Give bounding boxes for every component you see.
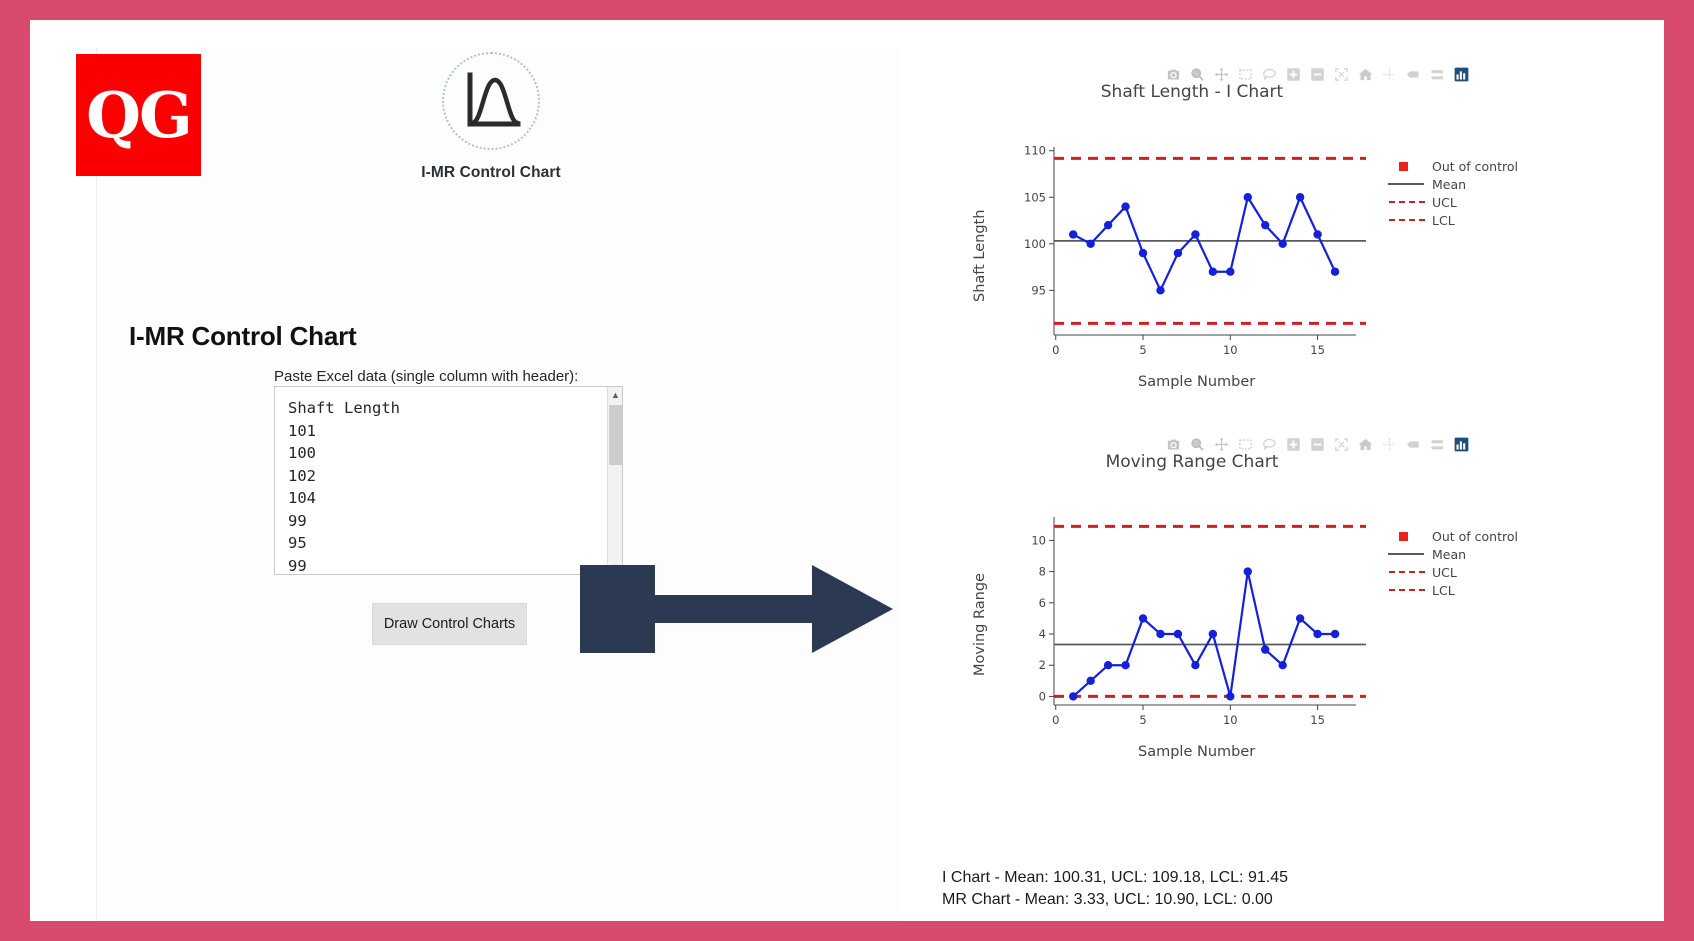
legend-item-label: UCL [1432, 195, 1457, 210]
page-title: I-MR Control Chart [129, 321, 356, 352]
brand-badge: I-MR Control Chart [396, 52, 586, 182]
mr-chart-stats-line: MR Chart - Mean: 3.33, UCL: 10.90, LCL: … [942, 889, 1288, 911]
svg-text:8: 8 [1039, 565, 1046, 579]
legend-swatch [1389, 571, 1425, 573]
badge-title: I-MR Control Chart [396, 164, 586, 182]
i-chart-plot-area[interactable]: 95100105110051015 [1006, 139, 1366, 369]
svg-text:5: 5 [1139, 713, 1146, 727]
app-page: QG I-MR Control Chart I-MR Control Chart… [66, 34, 1628, 907]
textarea-value: Shaft Length 101 100 102 104 99 95 99 [288, 397, 400, 575]
hover-compare-icon[interactable] [1426, 434, 1448, 454]
i-chart-y-axis-title: Shaft Length [972, 210, 988, 302]
legend-swatch [1389, 589, 1425, 591]
legend-item-out-of-control[interactable]: Out of control [1386, 527, 1518, 545]
reset-axes-home-icon[interactable] [1354, 434, 1376, 454]
textarea-scrollbar[interactable]: ▲ ▼ [607, 387, 622, 574]
legend-key-icon [1386, 563, 1426, 581]
legend-key-icon [1386, 193, 1426, 211]
toggle-spike-lines-icon[interactable] [1378, 64, 1400, 84]
mr-chart-x-axis-title: Sample Number [1138, 744, 1255, 760]
svg-text:105: 105 [1024, 190, 1046, 204]
mr-chart-plot-area[interactable]: 0246810051015 [1006, 509, 1366, 739]
hover-compare-icon[interactable] [1426, 64, 1448, 84]
badge-circle [442, 52, 540, 150]
legend-item-label: LCL [1432, 583, 1455, 598]
legend-key-icon [1386, 527, 1426, 545]
svg-text:95: 95 [1031, 283, 1046, 297]
reset-axes-home-icon[interactable] [1354, 64, 1376, 84]
i-chart-title: Shaft Length - I Chart [1042, 82, 1342, 102]
legend-item-ucl[interactable]: UCL [1386, 193, 1518, 211]
zoom-out-icon[interactable] [1306, 64, 1328, 84]
scroll-up-icon[interactable]: ▲ [608, 387, 623, 402]
toggle-spike-lines-icon[interactable] [1378, 434, 1400, 454]
autoscale-icon[interactable] [1330, 434, 1352, 454]
legend-item-ucl[interactable]: UCL [1386, 563, 1518, 581]
box-select-icon[interactable] [1234, 64, 1256, 84]
plotly-logo-icon[interactable] [1450, 434, 1472, 454]
svg-text:6: 6 [1039, 596, 1046, 610]
legend-item-label: Mean [1432, 177, 1466, 192]
svg-text:10: 10 [1223, 343, 1238, 357]
poster-frame: QG I-MR Control Chart I-MR Control Chart… [30, 20, 1664, 921]
legend-item-lcl[interactable]: LCL [1386, 581, 1518, 599]
legend-item-lcl[interactable]: LCL [1386, 211, 1518, 229]
draw-control-charts-button[interactable]: Draw Control Charts [372, 603, 527, 645]
pan-move-icon[interactable] [1210, 434, 1232, 454]
legend-key-icon [1386, 211, 1426, 229]
lasso-select-icon[interactable] [1258, 434, 1280, 454]
flow-arrow-icon [580, 559, 895, 659]
svg-text:0: 0 [1039, 689, 1046, 703]
legend-item-label: UCL [1432, 565, 1457, 580]
scrollbar-thumb[interactable] [609, 405, 622, 465]
svg-text:15: 15 [1310, 343, 1325, 357]
excel-data-textarea[interactable]: Shaft Length 101 100 102 104 99 95 99 ▲ … [274, 386, 623, 575]
qg-logo: QG [76, 54, 201, 176]
pan-move-icon[interactable] [1210, 64, 1232, 84]
mr-chart-modebar[interactable] [1162, 434, 1472, 454]
svg-text:0: 0 [1052, 343, 1059, 357]
legend-item-label: Out of control [1432, 529, 1518, 544]
mr-chart-y-axis-title: Moving Range [972, 573, 988, 676]
i-chart-x-axis-title: Sample Number [1138, 374, 1255, 390]
i-chart-legend[interactable]: Out of controlMeanUCLLCL [1386, 157, 1518, 229]
legend-swatch [1388, 183, 1424, 185]
mr-chart-legend[interactable]: Out of controlMeanUCLLCL [1386, 527, 1518, 599]
legend-swatch [1399, 532, 1408, 541]
svg-text:2: 2 [1039, 658, 1046, 672]
svg-text:110: 110 [1024, 144, 1046, 158]
legend-swatch [1399, 162, 1408, 171]
legend-swatch [1388, 553, 1424, 555]
paste-data-label: Paste Excel data (single column with hea… [274, 368, 578, 385]
svg-text:4: 4 [1039, 627, 1046, 641]
zoom-magnifier-icon[interactable] [1186, 64, 1208, 84]
legend-item-label: Mean [1432, 547, 1466, 562]
page-divider [96, 48, 97, 921]
legend-item-mean[interactable]: Mean [1386, 175, 1518, 193]
svg-text:100: 100 [1024, 237, 1046, 251]
svg-text:10: 10 [1223, 713, 1238, 727]
box-select-icon[interactable] [1234, 434, 1256, 454]
zoom-out-icon[interactable] [1306, 434, 1328, 454]
svg-text:0: 0 [1052, 713, 1059, 727]
zoom-in-icon[interactable] [1282, 64, 1304, 84]
legend-key-icon [1386, 581, 1426, 599]
svg-text:5: 5 [1139, 343, 1146, 357]
legend-item-label: LCL [1432, 213, 1455, 228]
zoom-in-icon[interactable] [1282, 434, 1304, 454]
legend-swatch [1389, 219, 1425, 221]
legend-item-out-of-control[interactable]: Out of control [1386, 157, 1518, 175]
hover-closest-icon[interactable] [1402, 434, 1424, 454]
autoscale-icon[interactable] [1330, 64, 1352, 84]
svg-text:10: 10 [1031, 533, 1046, 547]
control-limits-summary: I Chart - Mean: 100.31, UCL: 109.18, LCL… [942, 867, 1288, 911]
svg-text:15: 15 [1310, 713, 1325, 727]
plotly-logo-icon[interactable] [1450, 64, 1472, 84]
legend-key-icon [1386, 157, 1426, 175]
hover-closest-icon[interactable] [1402, 64, 1424, 84]
legend-key-icon [1386, 175, 1426, 193]
i-chart-modebar[interactable] [1162, 64, 1472, 84]
camera-icon[interactable] [1162, 434, 1184, 454]
camera-icon[interactable] [1162, 64, 1184, 84]
legend-key-icon [1386, 545, 1426, 563]
i-chart-stats-line: I Chart - Mean: 100.31, UCL: 109.18, LCL… [942, 867, 1288, 889]
zoom-magnifier-icon[interactable] [1186, 434, 1208, 454]
qg-logo-text: QG [86, 84, 191, 147]
legend-item-label: Out of control [1432, 159, 1518, 174]
lasso-select-icon[interactable] [1258, 64, 1280, 84]
legend-item-mean[interactable]: Mean [1386, 545, 1518, 563]
legend-swatch [1389, 201, 1425, 203]
mr-chart-title: Moving Range Chart [1042, 452, 1342, 472]
